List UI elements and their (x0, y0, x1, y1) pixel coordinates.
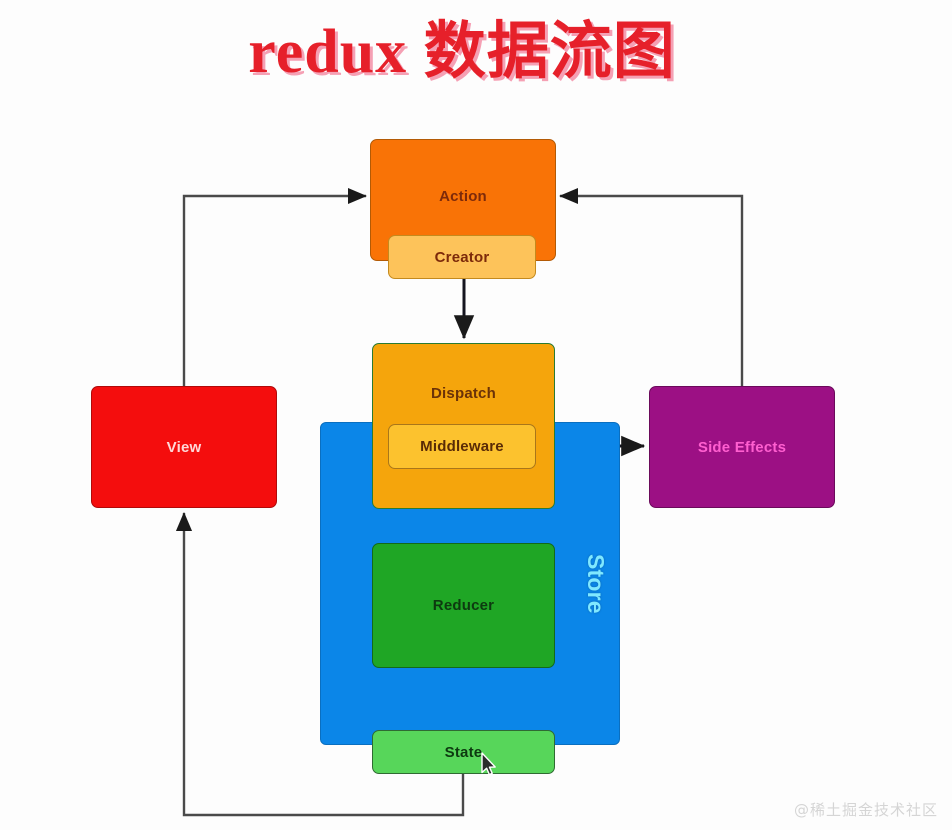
node-side-effects-label: Side Effects (698, 439, 786, 456)
node-reducer-label: Reducer (433, 597, 494, 614)
node-middleware-label: Middleware (420, 438, 504, 455)
watermark: @稀土掘金技术社区 (794, 799, 938, 820)
node-reducer[interactable]: Reducer (372, 543, 555, 668)
node-dispatch-label: Dispatch (431, 385, 496, 402)
title-en: redux (248, 18, 407, 86)
edge-sideeffects-to-action (560, 196, 742, 386)
node-store-label: Store (582, 554, 609, 614)
edge-view-to-action (184, 196, 366, 386)
title-cn: 数据流图 (424, 14, 676, 87)
node-middleware[interactable]: Middleware (388, 424, 536, 469)
node-view-label: View (167, 439, 202, 456)
node-creator[interactable]: Creator (388, 235, 536, 279)
node-state[interactable]: State (372, 730, 555, 774)
node-creator-label: Creator (435, 249, 490, 266)
node-side-effects[interactable]: Side Effects (649, 386, 835, 508)
node-action-label: Action (439, 188, 487, 205)
node-view[interactable]: View (91, 386, 277, 508)
diagram-canvas: redux 数据流图 Store (0, 0, 952, 830)
node-state-label: State (445, 744, 483, 761)
page-title: redux 数据流图 (0, 18, 924, 85)
